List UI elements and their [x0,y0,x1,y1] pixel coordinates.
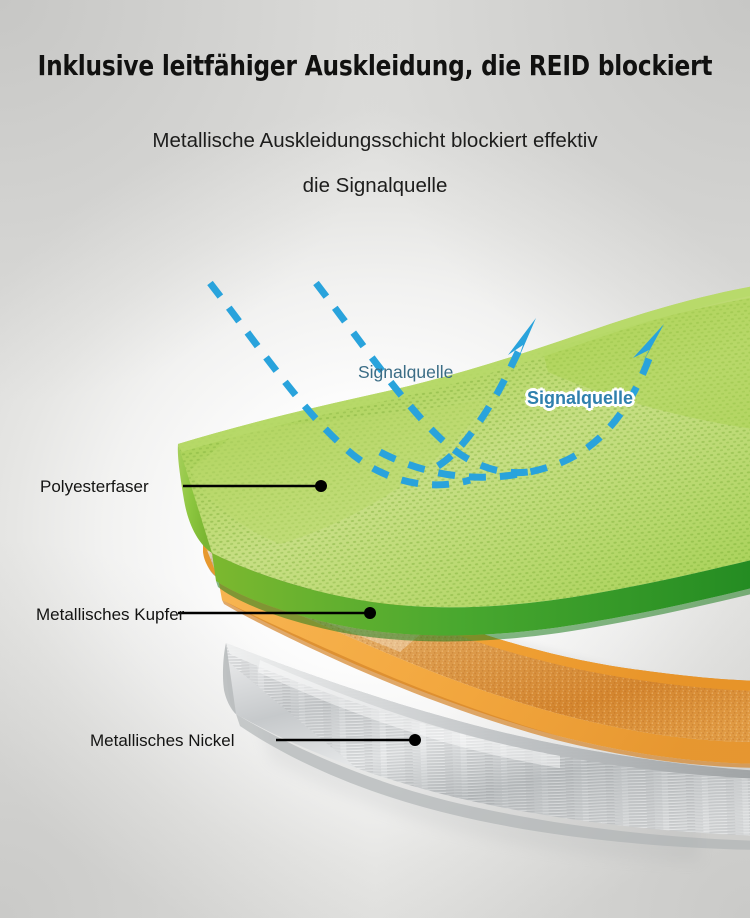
callout-label-polyester: Polyesterfaser [40,477,149,497]
subtitle-line-1: Metallische Auskleidungsschicht blockier… [0,129,750,153]
dot-nickel [409,734,421,746]
dot-copper [364,607,376,619]
callout-label-nickel: Metallisches Nickel [90,731,235,751]
signal-label-incoming: Signalquelle [358,362,453,383]
layer-polyester [178,285,750,641]
page-title: Inklusive leitfähiger Auskleidung, die R… [23,50,728,82]
dot-polyester [315,480,327,492]
callout-label-copper: Metallisches Kupfer [36,605,184,625]
signal-label-reflected: Signalquelle [527,388,633,409]
product-feature-infographic: Inklusive leitfähiger Auskleidung, die R… [0,0,750,918]
subtitle-line-2: die Signalquelle [0,174,750,198]
